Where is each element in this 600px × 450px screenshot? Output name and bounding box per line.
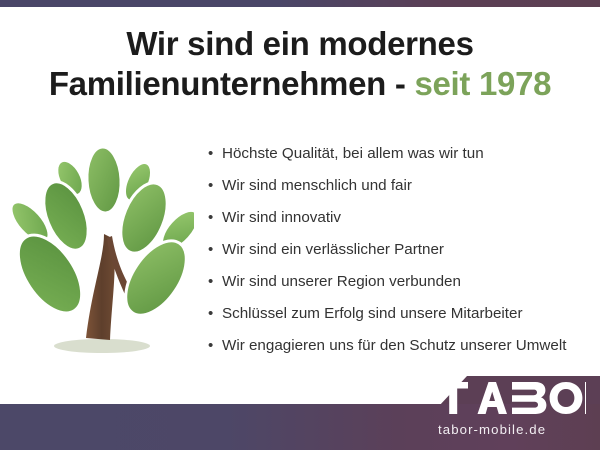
benefits-list: • Höchste Qualität, bei allem was wir tu… [208,143,596,367]
tree-icon [8,138,194,363]
bullet-marker-icon: • [208,239,222,261]
list-item: • Wir sind unserer Region verbunden [208,271,596,303]
headline-line-1: Wir sind ein modernes [126,25,473,62]
list-item-label: Höchste Qualität, bei allem was wir tun [222,143,484,165]
list-item: • Wir sind ein verlässlicher Partner [208,239,596,271]
bullet-marker-icon: • [208,271,222,293]
list-item: • Wir engagieren uns für den Schutz unse… [208,335,596,367]
list-item-label: Wir engagieren uns für den Schutz unsere… [222,335,566,357]
bullet-marker-icon: • [208,207,222,229]
list-item: • Höchste Qualität, bei allem was wir tu… [208,143,596,175]
tabor-wordmark-icon [438,382,586,416]
tree-logo-illustration [8,138,194,363]
list-item: • Schlüssel zum Erfolg sind unsere Mitar… [208,303,596,335]
top-accent-bar [0,0,600,7]
list-item: • Wir sind innovativ [208,207,596,239]
list-item: • Wir sind menschlich und fair [208,175,596,207]
headline-line-2-main: Familienunternehmen - [49,65,415,102]
brand-url-label: tabor-mobile.de [438,422,588,437]
bullet-marker-icon: • [208,143,222,165]
list-item-label: Wir sind unserer Region verbunden [222,271,461,293]
ground-shadow [54,339,150,353]
list-item-label: Wir sind ein verlässlicher Partner [222,239,444,261]
headline-accent-year: seit 1978 [414,65,551,102]
bullet-marker-icon: • [208,303,222,325]
list-item-label: Schlüssel zum Erfolg sind unsere Mitarbe… [222,303,523,325]
bullet-marker-icon: • [208,335,222,357]
list-item-label: Wir sind menschlich und fair [222,175,412,197]
headline-line-2: Familienunternehmen - seit 1978 [0,64,600,104]
list-item-label: Wir sind innovativ [222,207,341,229]
bullet-marker-icon: • [208,175,222,197]
leaf-top-center [85,146,122,214]
brand-logo[interactable]: tabor-mobile.de [438,382,588,437]
slide-canvas: Wir sind ein modernes Familienunternehme… [0,0,600,450]
page-title: Wir sind ein modernes Familienunternehme… [0,24,600,104]
